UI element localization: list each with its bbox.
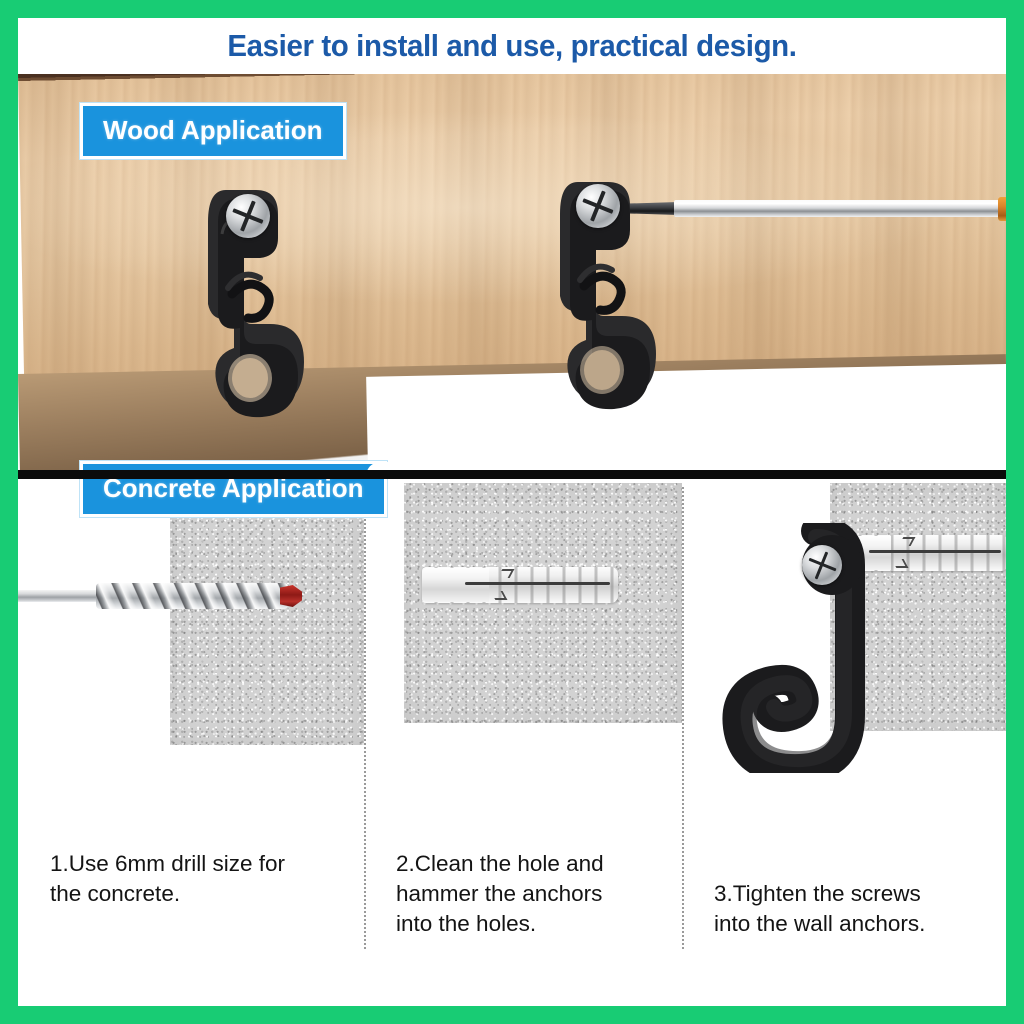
poster-sheet: Easier to install and use, practical des… bbox=[18, 18, 1006, 1006]
wall-anchor-icon bbox=[422, 567, 618, 603]
section-divider bbox=[18, 470, 1006, 479]
concrete-application-section: 1.Use 6mm drill size for the concrete. 2… bbox=[18, 479, 1006, 1006]
concrete-step-panel-2: 2.Clean the hole and hammer the anchors … bbox=[364, 479, 682, 1006]
wood-hook-right bbox=[540, 174, 670, 414]
screwdriver-ferrule bbox=[998, 197, 1006, 221]
wood-backdrop-right bbox=[366, 364, 1006, 474]
masonry-drill-bit-icon bbox=[18, 579, 310, 613]
drill-carbide-tip bbox=[280, 585, 302, 607]
anchor-slot bbox=[465, 582, 610, 585]
anchor-collar bbox=[422, 568, 489, 602]
step-2-caption: 2.Clean the hole and hammer the anchors … bbox=[396, 849, 676, 939]
wood-application-banner: Wood Application bbox=[80, 103, 346, 159]
poster-frame: Easier to install and use, practical des… bbox=[0, 0, 1024, 1024]
drill-shank bbox=[18, 590, 102, 602]
page-title: Easier to install and use, practical des… bbox=[43, 28, 982, 64]
wood-hook-left bbox=[188, 182, 318, 422]
drill-flute bbox=[96, 583, 288, 609]
concrete-block bbox=[170, 483, 364, 745]
screw-head bbox=[802, 545, 842, 585]
screw-head bbox=[576, 184, 620, 228]
concrete-block bbox=[404, 483, 682, 723]
concrete-mounted-hook bbox=[720, 523, 880, 773]
step-1-caption: 1.Use 6mm drill size for the concrete. bbox=[50, 849, 350, 909]
screw-head bbox=[226, 194, 270, 238]
concrete-step-panel-3: 3.Tighten the screws into the wall ancho… bbox=[682, 479, 1006, 1006]
anchor-slot bbox=[869, 550, 1001, 553]
wood-application-section: Wood Application Tighten with a cross sc… bbox=[18, 74, 1006, 474]
screwdriver-shaft bbox=[674, 200, 1004, 217]
concrete-step-panel-1: 1.Use 6mm drill size for the concrete. bbox=[18, 479, 364, 1006]
step-3-caption: 3.Tighten the screws into the wall ancho… bbox=[714, 879, 1004, 939]
screwdriver-icon bbox=[618, 196, 1006, 226]
